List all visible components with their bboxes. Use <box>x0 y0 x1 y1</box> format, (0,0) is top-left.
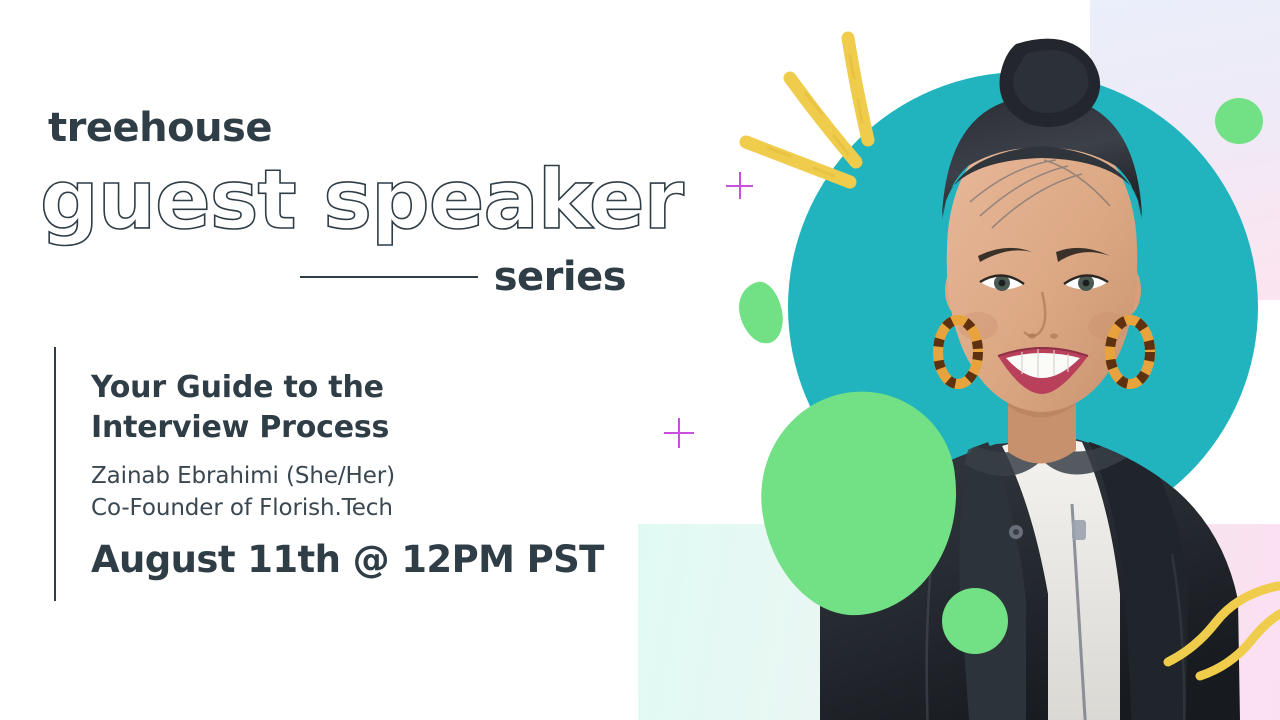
series-divider-rule <box>300 276 478 278</box>
green-blob-small <box>734 278 788 347</box>
yellow-wave-strokes <box>1150 570 1280 690</box>
green-circle-bottom <box>942 588 1008 654</box>
event-topic-line-2: Interview Process <box>91 408 651 448</box>
yellow-ray-strokes <box>730 30 900 190</box>
brand-wordmark: treehouse <box>48 108 272 148</box>
event-topic-line-1: Your Guide to the <box>91 368 651 408</box>
magenta-plus-icon-top <box>726 172 753 199</box>
series-label: series <box>494 257 626 297</box>
guest-speaker-poster: treehouse guest speaker series Your Guid… <box>0 0 1280 720</box>
magenta-plus-icon-middle <box>664 418 694 448</box>
event-datetime: August 11th @ 12PM PST <box>91 541 651 578</box>
vertical-accent-bar <box>54 347 56 601</box>
headline-outline-text: guest speaker <box>40 160 683 242</box>
speaker-role: Co-Founder of Florish.Tech <box>91 493 651 525</box>
speaker-name: Zainab Ebrahimi (She/Her) <box>91 461 651 493</box>
event-details: Your Guide to the Interview Process Zain… <box>91 368 651 578</box>
event-topic: Your Guide to the Interview Process <box>91 368 651 447</box>
green-circle-top-right <box>1215 98 1263 144</box>
series-row: series <box>300 252 626 302</box>
